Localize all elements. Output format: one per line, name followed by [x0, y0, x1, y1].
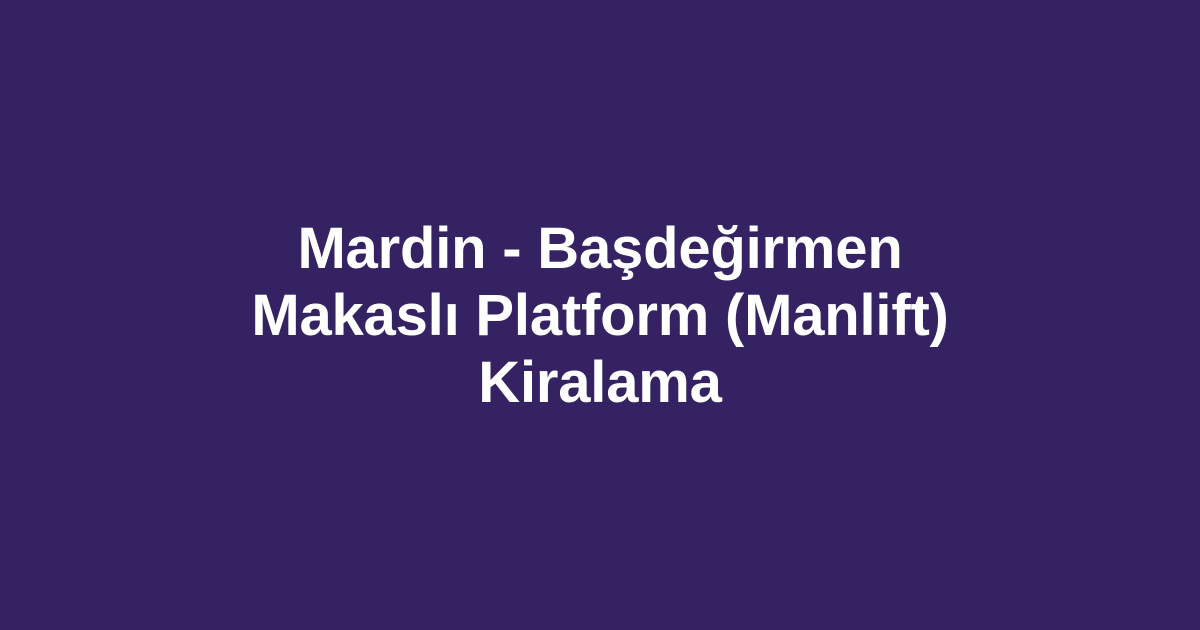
share-card: Mardin - Başdeğirmen Makaslı Platform (M…	[0, 0, 1200, 630]
title-block: Mardin - Başdeğirmen Makaslı Platform (M…	[190, 215, 1010, 416]
page-title: Mardin - Başdeğirmen Makaslı Platform (M…	[206, 215, 994, 416]
